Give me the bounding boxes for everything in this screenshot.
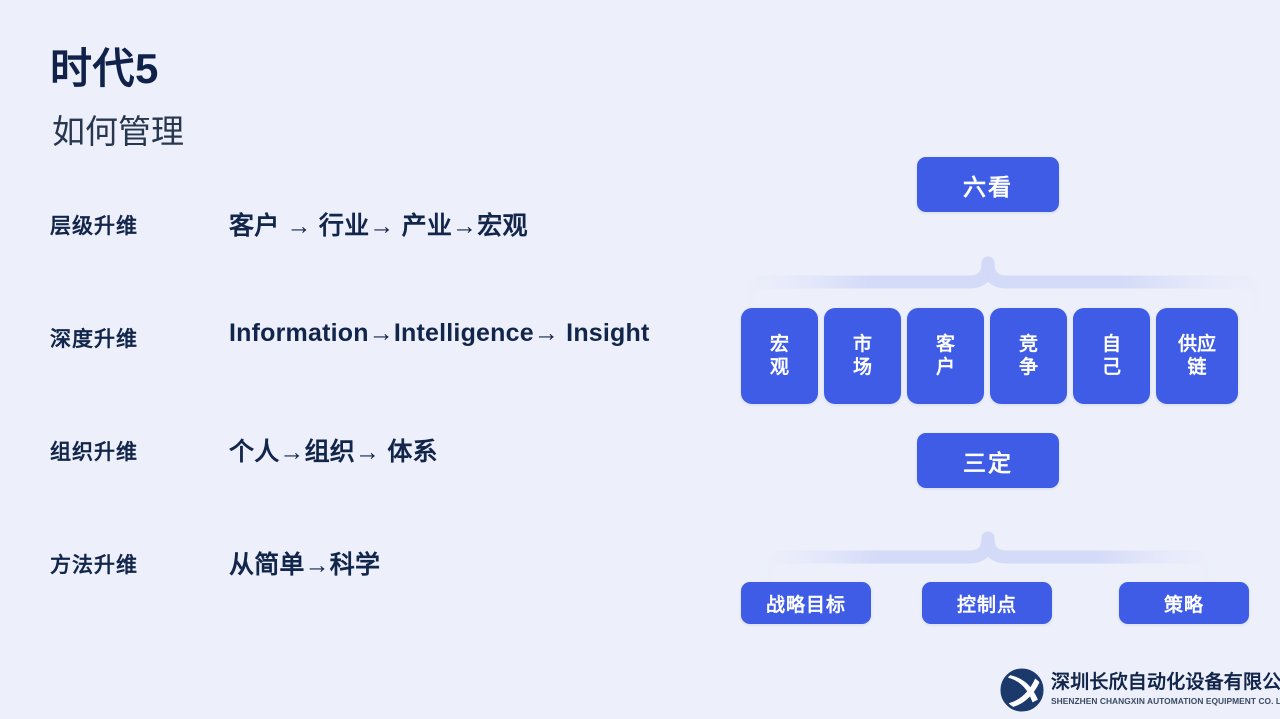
row-value: Information→Intelligence→ Insight bbox=[229, 319, 650, 348]
list-item: 层级升维 客户 → 行业→ 产业→宏观 bbox=[50, 200, 710, 313]
connector-branch-right-six bbox=[988, 263, 1260, 308]
connector-branch-right-three bbox=[988, 538, 1210, 582]
node-child-zhanlvemubiao[interactable]: 战略目标 bbox=[741, 582, 871, 624]
org-tree-diagram: 六看 宏观 市场 客户 竞争 自己 供应链 三定 战略目标 控制点 策略 bbox=[700, 130, 1280, 650]
page-subtitle: 如何管理 bbox=[52, 113, 184, 151]
logo-company-name-cn: 深圳长欣自动化设备有限公司 bbox=[1051, 673, 1280, 694]
row-value: 从简单→科学 bbox=[229, 545, 380, 581]
node-child-jingzheng[interactable]: 竞争 bbox=[990, 308, 1067, 404]
row-value: 个人→组织→ 体系 bbox=[229, 432, 438, 468]
list-item: 方法升维 从简单→科学 bbox=[50, 539, 710, 652]
dimension-upgrade-list: 层级升维 客户 → 行业→ 产业→宏观 深度升维 Information→Int… bbox=[50, 200, 710, 652]
node-root-sanding[interactable]: 三定 bbox=[917, 433, 1059, 488]
row-label: 深度升维 bbox=[50, 323, 138, 353]
node-root-liukan[interactable]: 六看 bbox=[917, 157, 1059, 212]
company-logo: 深圳长欣自动化设备有限公司 SHENZHEN CHANGXIN AUTOMATI… bbox=[1000, 666, 1272, 714]
logo-text-block: 深圳长欣自动化设备有限公司 SHENZHEN CHANGXIN AUTOMATI… bbox=[1051, 673, 1280, 706]
connector-branch-left-six bbox=[747, 263, 988, 308]
list-item: 深度升维 Information→Intelligence→ Insight bbox=[50, 313, 710, 426]
row-label: 方法升维 bbox=[50, 549, 138, 579]
node-child-celve[interactable]: 策略 bbox=[1119, 582, 1249, 624]
list-item: 组织升维 个人→组织→ 体系 bbox=[50, 426, 710, 539]
node-child-kongzhidian[interactable]: 控制点 bbox=[922, 582, 1052, 624]
node-child-hongguan[interactable]: 宏观 bbox=[741, 308, 818, 404]
node-child-ziji[interactable]: 自己 bbox=[1073, 308, 1150, 404]
node-child-gongyinglian[interactable]: 供应链 bbox=[1156, 308, 1238, 404]
row-label: 组织升维 bbox=[50, 436, 138, 466]
row-label: 层级升维 bbox=[50, 210, 138, 240]
changxin-circle-x-icon bbox=[1000, 668, 1044, 712]
node-child-kehu[interactable]: 客户 bbox=[907, 308, 984, 404]
page-title: 时代5 bbox=[50, 47, 159, 91]
row-value: 客户 → 行业→ 产业→宏观 bbox=[229, 206, 528, 242]
connector-branch-left-three bbox=[766, 538, 988, 582]
slide-canvas: 时代5 如何管理 层级升维 客户 → 行业→ 产业→宏观 深度升维 Inform… bbox=[0, 0, 1280, 719]
node-child-shichang[interactable]: 市场 bbox=[824, 308, 901, 404]
logo-company-name-en: SHENZHEN CHANGXIN AUTOMATION EQUIPMENT C… bbox=[1051, 696, 1280, 707]
